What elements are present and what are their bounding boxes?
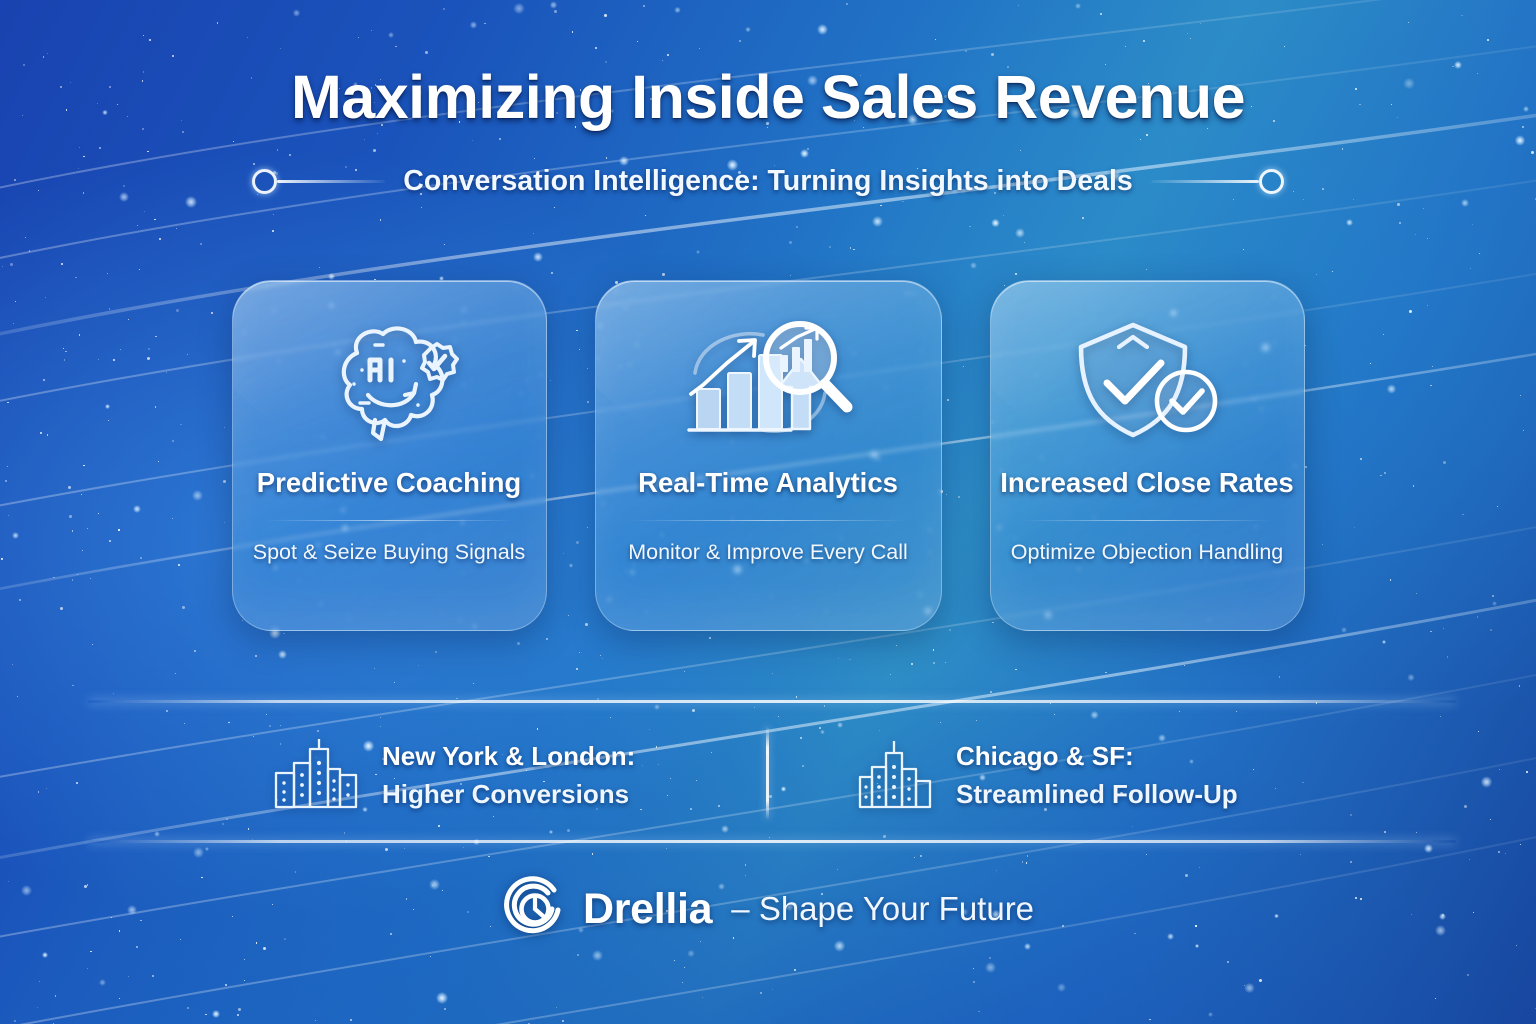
subtitle-connector-left <box>252 169 385 194</box>
card-divider <box>630 520 906 521</box>
brand-name: Drellia <box>583 885 712 934</box>
card-subtitle: Optimize Objection Handling <box>1011 540 1283 565</box>
ai-brain-icon <box>313 311 465 461</box>
stat-text: New York & London: Higher Conversions <box>382 741 635 810</box>
city-stats-row: New York & London: Higher Conversions <box>0 725 1536 825</box>
card-divider <box>264 520 514 521</box>
subtitle-connector-right <box>1151 169 1284 194</box>
analytics-magnifier-icon <box>675 311 861 461</box>
city-skyline-icon <box>858 737 934 814</box>
connector-line <box>1151 180 1259 183</box>
stat-chicago-sf: Chicago & SF: Streamlined Follow-Up <box>858 737 1238 814</box>
ring-node-icon <box>1259 169 1284 194</box>
card-subtitle: Spot & Seize Buying Signals <box>253 540 526 565</box>
card-subtitle: Monitor & Improve Every Call <box>628 540 908 565</box>
stat-title: Chicago & SF: <box>956 741 1238 772</box>
page-subtitle: Conversation Intelligence: Turning Insig… <box>385 165 1150 198</box>
card-title: Real-Time Analytics <box>638 467 898 499</box>
section-divider-bottom <box>88 840 1456 843</box>
stat-new-york-london: New York & London: Higher Conversions <box>272 737 635 814</box>
card-divider <box>1022 520 1272 521</box>
feature-card-row: Predictive Coaching Spot & Seize Buying … <box>0 280 1536 631</box>
infographic-canvas: Maximizing Inside Sales Revenue Conversa… <box>0 0 1536 1024</box>
stat-title: New York & London: <box>382 741 635 772</box>
subtitle-row: Conversation Intelligence: Turning Insig… <box>0 159 1536 203</box>
feature-card-predictive-coaching[interactable]: Predictive Coaching Spot & Seize Buying … <box>232 280 547 631</box>
feature-card-real-time-analytics[interactable]: Real-Time Analytics Monitor & Improve Ev… <box>595 280 942 631</box>
section-divider-top <box>88 700 1456 703</box>
stat-text: Chicago & SF: Streamlined Follow-Up <box>956 741 1238 810</box>
footer-branding: Drellia – Shape Your Future <box>0 874 1536 944</box>
ring-node-icon <box>252 169 277 194</box>
page-title: Maximizing Inside Sales Revenue <box>0 62 1536 132</box>
card-title: Increased Close Rates <box>1000 467 1293 499</box>
city-skyline-icon <box>272 737 360 814</box>
shield-check-icon <box>1067 311 1227 461</box>
stat-subtitle: Higher Conversions <box>382 779 635 810</box>
feature-card-increased-close-rates[interactable]: Increased Close Rates Optimize Objection… <box>990 280 1305 631</box>
drellia-clock-spiral-logo <box>502 876 564 943</box>
connector-line <box>277 180 385 183</box>
card-title: Predictive Coaching <box>257 467 521 499</box>
stat-subtitle: Streamlined Follow-Up <box>956 779 1238 810</box>
brand-tagline: – Shape Your Future <box>731 890 1034 928</box>
